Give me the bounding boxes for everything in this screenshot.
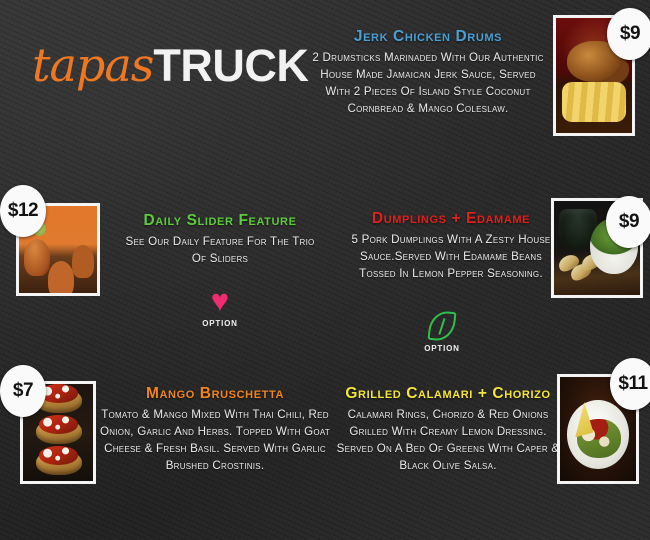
item-title-dumplings-edamame: Dumplings + Edamame bbox=[348, 210, 554, 227]
brand-name-truck: TRUCK bbox=[153, 40, 308, 91]
item-description-mango-bruschetta: Tomato & mango mixed with thai chili, re… bbox=[100, 407, 330, 475]
item-title-grilled-calamari-chorizo: Grilled Calamari + Chorizo bbox=[334, 385, 562, 402]
menu-item-jerk-chicken-drums: Jerk Chicken Drums 2 drumsticks marinade… bbox=[312, 28, 544, 118]
menu-item-dumplings-edamame: Dumplings + Edamame 5 pork dumplings wit… bbox=[348, 210, 554, 283]
menu-board: tapasTRUCK Jerk Chicken Drums 2 drumstic… bbox=[0, 0, 650, 540]
item-title-jerk-chicken-drums: Jerk Chicken Drums bbox=[312, 28, 544, 45]
price-badge-bruschetta: $7 bbox=[0, 365, 46, 417]
item-description-daily-slider-feature: See our daily feature for the Trio of sl… bbox=[118, 234, 322, 268]
item-description-jerk-chicken-drums: 2 drumsticks marinaded with our authenti… bbox=[312, 50, 544, 118]
brand-name-tapas: tapas bbox=[32, 38, 153, 92]
item-description-dumplings-edamame: 5 pork dumplings with a zesty house sauc… bbox=[348, 232, 554, 283]
price-badge-calamari: $11 bbox=[610, 358, 650, 410]
item-title-mango-bruschetta: Mango Bruschetta bbox=[100, 385, 330, 402]
price-badge-dumplings: $9 bbox=[606, 196, 650, 248]
menu-item-mango-bruschetta: Mango Bruschetta Tomato & mango mixed wi… bbox=[100, 385, 330, 475]
brand-logo: tapasTRUCK bbox=[32, 42, 308, 88]
item-title-daily-slider-feature: Daily Slider Feature bbox=[118, 212, 322, 229]
option-label-dumplings: OPTION bbox=[412, 344, 472, 353]
option-label-sliders: OPTION bbox=[190, 319, 250, 328]
menu-item-daily-slider-feature: Daily Slider Feature See our daily featu… bbox=[118, 212, 322, 268]
menu-item-grilled-calamari-chorizo: Grilled Calamari + Chorizo Calamari ring… bbox=[334, 385, 562, 475]
option-badge-heart-sliders: ♥ OPTION bbox=[190, 286, 250, 328]
price-badge-jerk-chicken: $9 bbox=[607, 8, 650, 60]
price-badge-sliders: $12 bbox=[0, 185, 46, 237]
lemon-wedge-shape bbox=[575, 402, 593, 437]
item-description-grilled-calamari-chorizo: Calamari rings, chorizo & red onions gri… bbox=[334, 407, 562, 475]
option-badge-leaf-dumplings: OPTION bbox=[412, 311, 472, 353]
dumpling-shapes bbox=[558, 254, 603, 288]
leaf-icon bbox=[427, 311, 457, 341]
heart-icon: ♥ bbox=[205, 286, 235, 316]
